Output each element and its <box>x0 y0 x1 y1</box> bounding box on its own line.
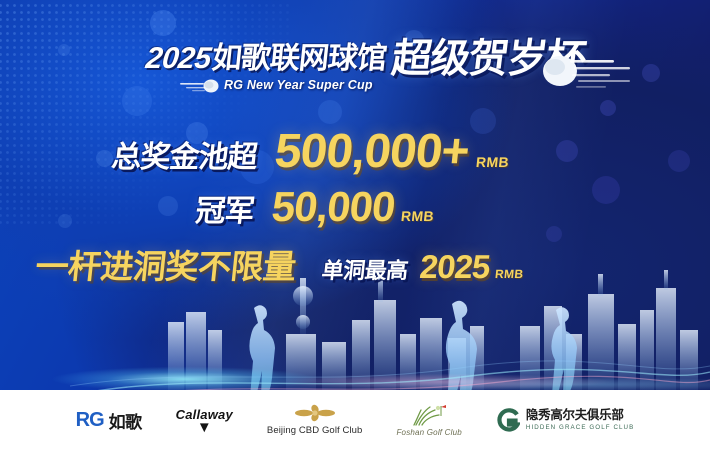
sponsor-foshan[interactable]: Foshan Golf Club <box>396 396 461 444</box>
title-subtitle-en: RG New Year Super Cup <box>224 78 373 92</box>
callaway-chevron-icon: ▼ <box>197 423 212 434</box>
sponsor-hidden-grace[interactable]: 隐秀高尔夫俱乐部 HIDDEN GRACE GOLF CLUB <box>496 396 634 444</box>
sponsor-hidden-grace-en: HIDDEN GRACE GOLF CLUB <box>526 424 634 431</box>
sponsor-rg-cn: 如歌 <box>109 408 142 433</box>
sponsor-bar: RG 如歌 Callaway ▼ Beijing CBD Golf Club <box>0 390 710 450</box>
prize-amount-total-pool: 500,000+ <box>272 128 471 176</box>
hidden-grace-g-icon <box>496 408 520 432</box>
prize-row-total-pool: 总奖金池超 500,000+ RMB <box>112 128 509 176</box>
hole-in-one-headline: 一杆进洞奖不限量 <box>33 240 298 288</box>
hole-in-one-label: 单洞最高 <box>320 253 409 285</box>
golf-ball-streak-icon-small <box>178 78 224 94</box>
sponsor-rg[interactable]: RG 如歌 <box>76 396 142 444</box>
prize-currency-champion: RMB <box>401 208 436 224</box>
prize-row-champion: 冠军 50,000 RMB <box>196 186 435 230</box>
foshan-grass-icon <box>408 404 450 426</box>
sponsor-callaway[interactable]: Callaway ▼ <box>176 396 233 444</box>
title-year: 2025 <box>144 44 212 74</box>
title-block: 2025 如歌联网球馆 超级贺岁杯 RG New Year Super Cup <box>0 44 710 100</box>
prize-currency-total-pool: RMB <box>475 154 510 170</box>
sponsor-hidden-grace-cn: 隐秀高尔夫俱乐部 <box>526 409 624 423</box>
prize-row-hole-in-one: 一杆进洞奖不限量 单洞最高 2025 RMB <box>36 240 524 288</box>
sponsor-cbd-name: Beijing CBD Golf Club <box>267 425 363 436</box>
title-event-cn: 超级贺岁杯 <box>389 39 586 79</box>
hidden-grace-row: 隐秀高尔夫俱乐部 HIDDEN GRACE GOLF CLUB <box>496 408 634 432</box>
prize-label-total-pool: 总奖金池超 <box>110 132 260 176</box>
sponsor-rg-mark: RG <box>76 409 104 432</box>
rg-logo-icon: RG 如歌 <box>76 408 142 433</box>
title-brand-cn: 如歌联网球馆 <box>210 44 387 74</box>
prize-label-champion: 冠军 <box>194 186 257 230</box>
title-main-line: 2025 如歌联网球馆 超级贺岁杯 <box>146 44 584 79</box>
sponsor-beijing-cbd[interactable]: Beijing CBD Golf Club <box>267 396 363 444</box>
sponsor-foshan-name: Foshan Golf Club <box>396 428 461 437</box>
prize-amount-champion: 50,000 <box>270 186 397 228</box>
cbd-pinwheel-icon <box>294 404 336 422</box>
hole-in-one-amount: 2025 <box>418 250 491 283</box>
hole-in-one-currency: RMB <box>495 267 525 281</box>
poster-root: 2025 如歌联网球馆 超级贺岁杯 RG New Year Super Cup … <box>0 0 710 450</box>
